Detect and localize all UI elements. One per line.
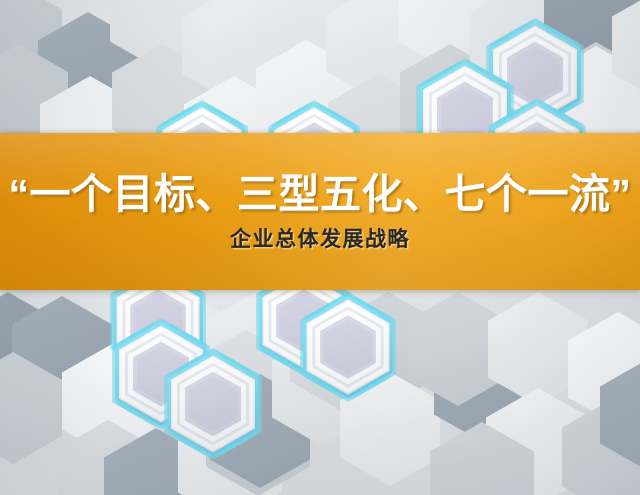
title-band: “一个目标、三型五化、七个一流” 企业总体发展战略 xyxy=(0,133,640,290)
title-slide: “一个目标、三型五化、七个一流” 企业总体发展战略 xyxy=(0,0,640,495)
slide-title: “一个目标、三型五化、七个一流” xyxy=(9,174,632,215)
slide-subtitle: 企业总体发展战略 xyxy=(230,229,410,250)
